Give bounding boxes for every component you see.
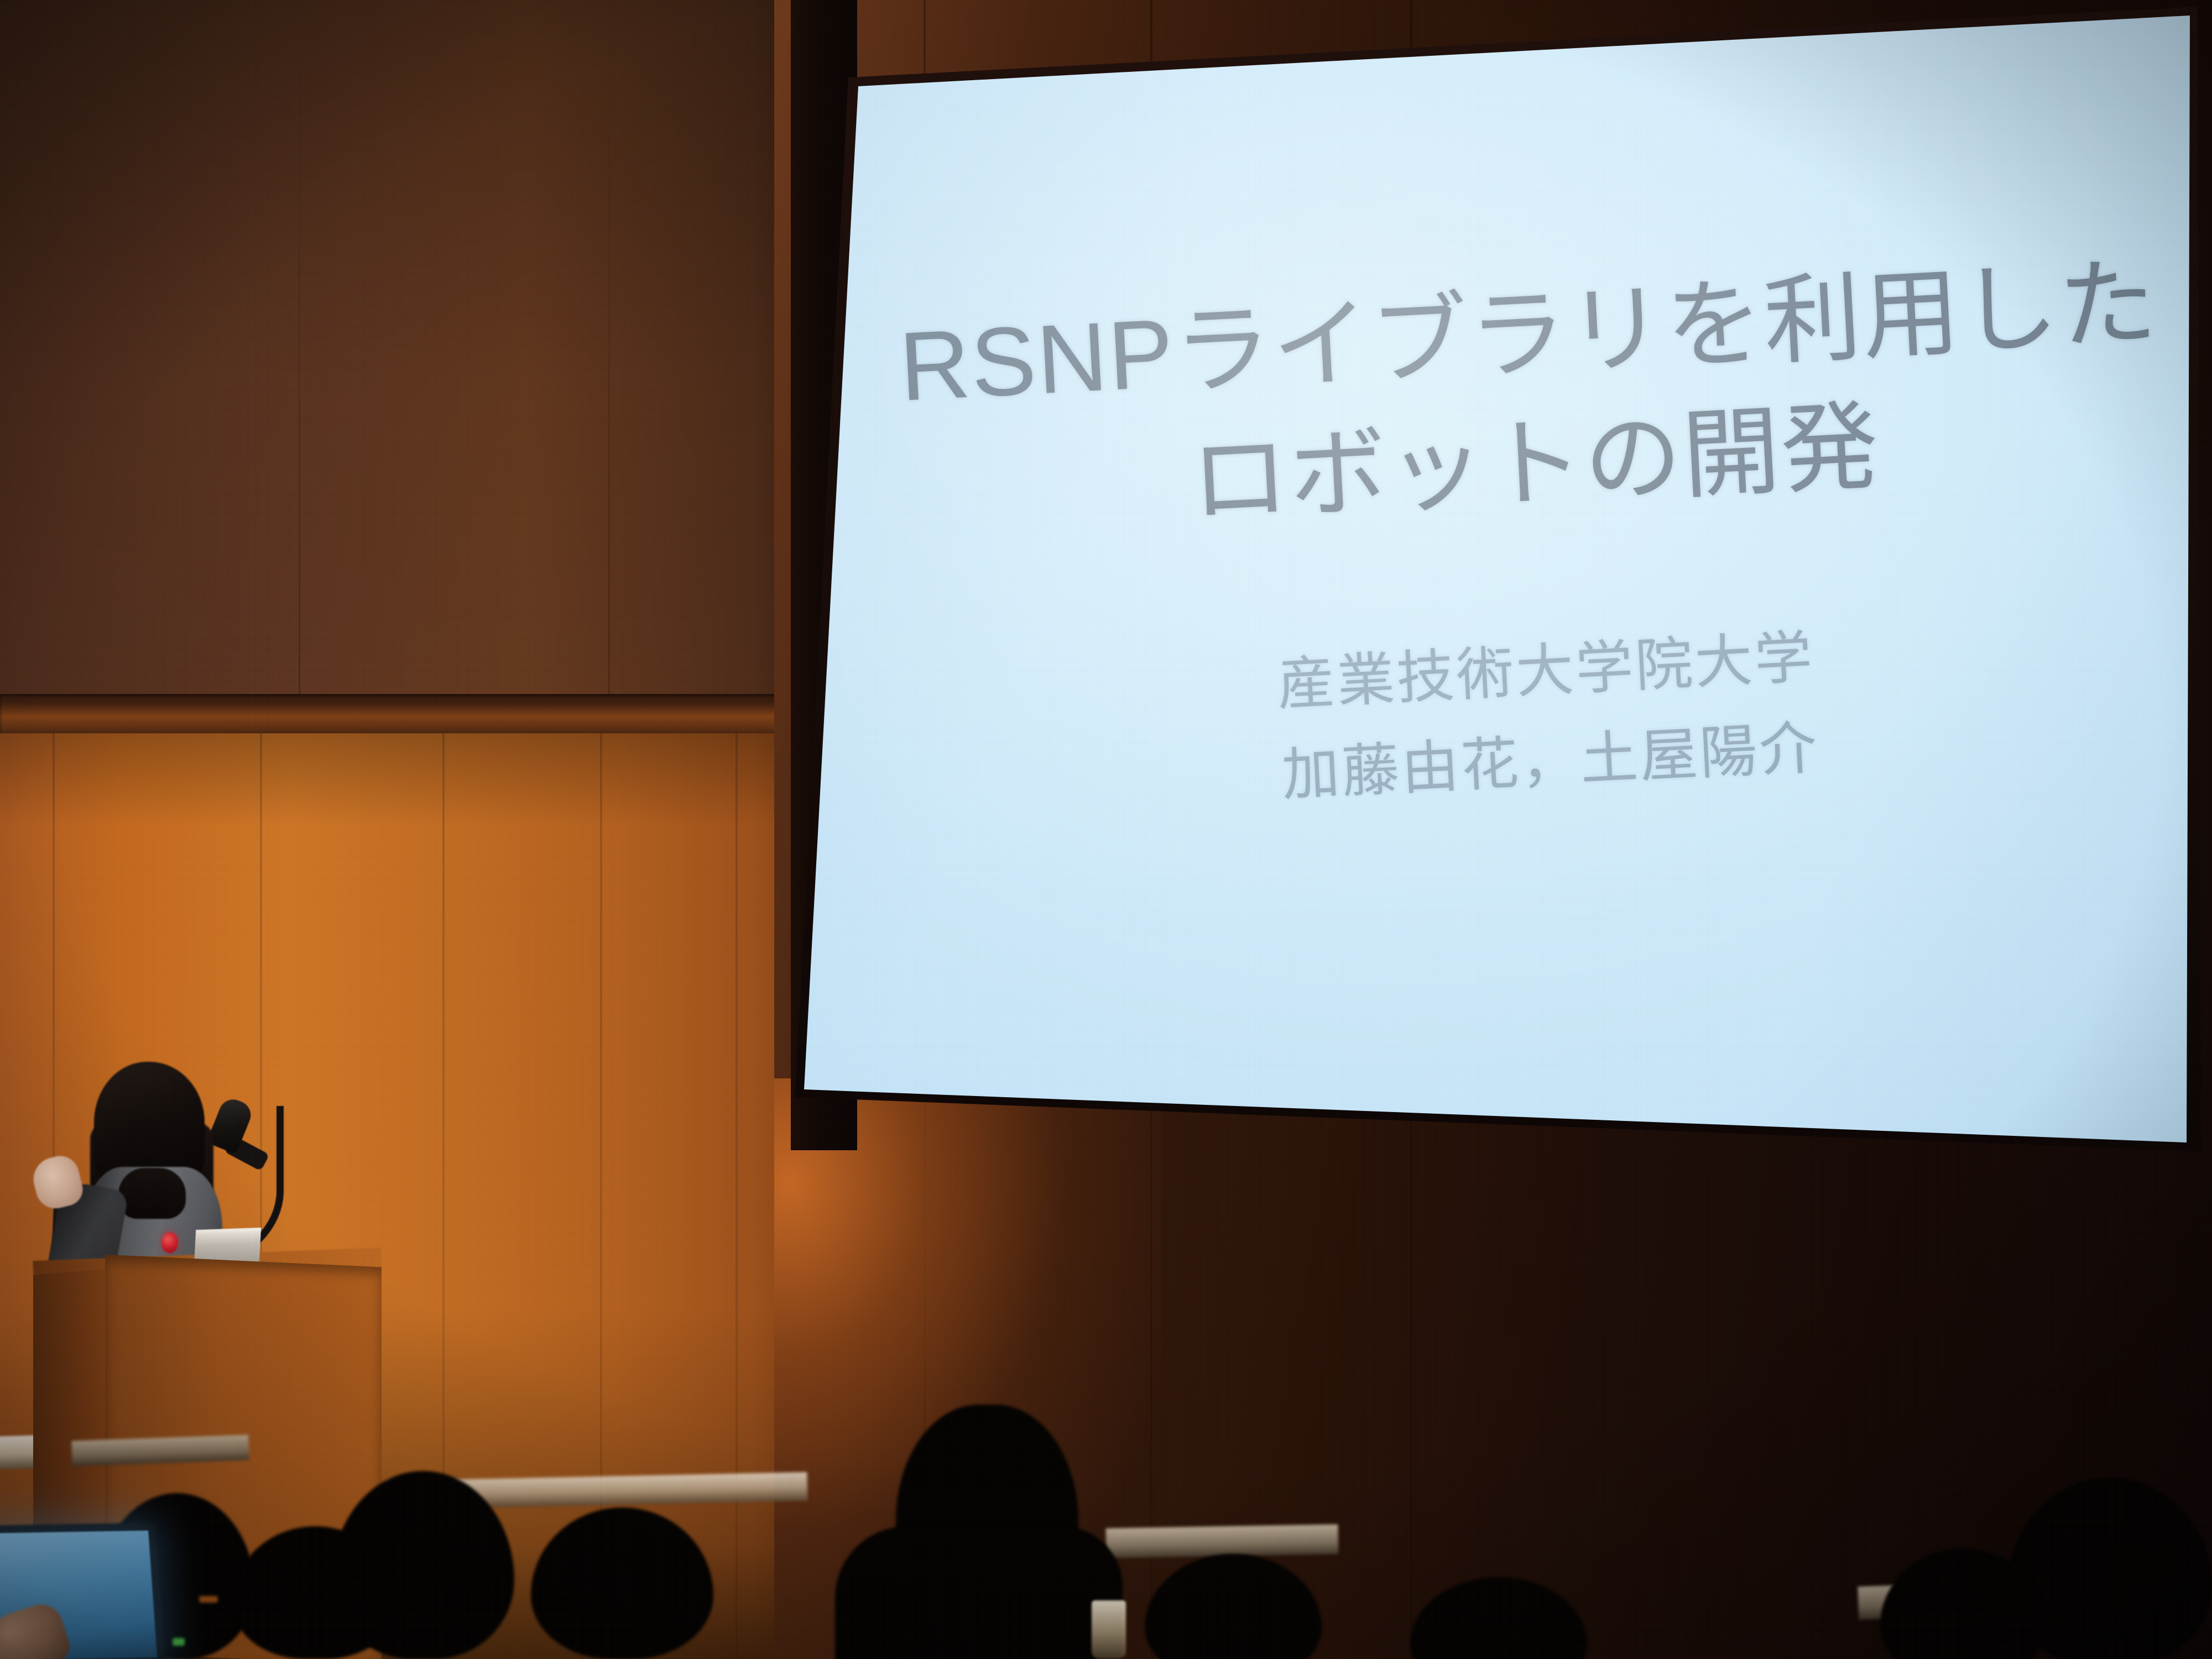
wall-trim-molding <box>0 694 854 737</box>
status-led-green <box>173 1638 185 1646</box>
status-led-amber <box>199 1596 218 1603</box>
slide-subtitle: 産業技術大学院大学加藤由花，土屋陽介 <box>1275 612 1822 821</box>
slide-title: RSNPライブラリを利用したロボットの開発 <box>896 238 2167 561</box>
presenter-turtleneck <box>118 1168 186 1219</box>
projected-slide: RSNPライブラリを利用したロボットの開発 産業技術大学院大学加藤由花，土屋陽介 <box>863 27 2212 1110</box>
slide-title-line-1: RSNPライブラリを利用した <box>897 248 2160 421</box>
slide-authors: 加藤由花，土屋陽介 <box>1280 716 1820 808</box>
slide-affiliation: 産業技術大学院大学 <box>1276 625 1816 717</box>
list-item <box>835 1526 1123 1659</box>
slide-title-line-2: ロボットの開発 <box>1188 392 1882 536</box>
water-glass <box>1092 1600 1126 1659</box>
upper-wall <box>0 0 854 698</box>
presentation-photo-scene: RSNPライブラリを利用したロボットの開発 産業技術大学院大学加藤由花，土屋陽介 <box>0 0 2212 1659</box>
audience-desk-edge <box>1106 1524 1339 1558</box>
presenter-brooch <box>161 1232 178 1253</box>
